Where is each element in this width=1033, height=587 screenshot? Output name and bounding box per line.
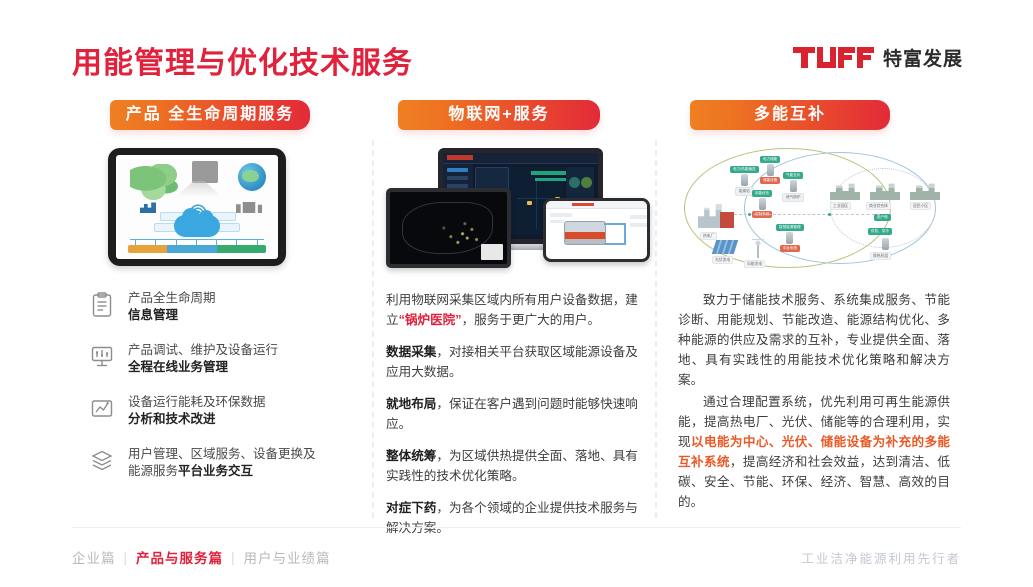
boiler-schematic (564, 221, 606, 245)
phone-tag (630, 215, 647, 219)
multi-energy-text-block: 致力于储能技术服务、系统集成服务、节能诊断、用能规划、节能改造、能源结构优化、多… (678, 290, 950, 514)
list-item: 产品调试、维护及设备运行 全程在线业务管理 (90, 342, 380, 376)
diagram-label: 光伏发电 (712, 256, 733, 264)
phone-topbar (546, 201, 647, 209)
list-item-line2: 分析和技术改进 (128, 412, 216, 426)
list-item: 设备运行能耗及环保数据 分析和技术改进 (90, 394, 380, 428)
gauge-icon (569, 177, 580, 188)
list-item-line2-plain: 能源服务 (128, 464, 178, 478)
paragraph: 利用物联网采集区域内所有用户设备数据，建立“锅炉医院”，服务于更广大的用户。 (386, 290, 650, 330)
paragraph: 就地布局，保证在客户遇到问题时能够快速响应。 (386, 394, 650, 434)
pipe-line (604, 223, 626, 225)
tablet-device-image (108, 148, 286, 266)
segment-bar (128, 245, 266, 253)
diagram-label: 风能发电 (744, 260, 765, 268)
clipboard-icon (90, 292, 114, 318)
banner-wrap-2: 物联网+服务 (378, 100, 658, 134)
paragraph: 数据采集，对接相关平台获取区域能源设备及应用大数据。 (386, 342, 650, 382)
footer-separator: | (124, 550, 129, 565)
node-caption: 平台系统 (780, 245, 800, 252)
layers-icon (90, 448, 114, 474)
node-caption: 储能设备 (760, 177, 780, 184)
factory-icon (140, 201, 156, 213)
paragraph-highlight: “锅炉医院” (399, 313, 462, 327)
node-pill (741, 174, 748, 186)
tuff-wordmark-icon (793, 47, 874, 68)
list-item-line1: 设备运行能耗及环保数据 (128, 395, 266, 409)
phone-logo (572, 203, 594, 206)
slide-header: 用能管理与优化技术服务 特富发展 (0, 0, 1033, 96)
cloud-icon (174, 215, 220, 237)
footer-nav: 企业篇 | 产品与服务篇 | 用户与业绩篇 (72, 547, 331, 567)
map-outline (402, 202, 493, 254)
footer-nav-item-2[interactable]: 产品与服务篇 (136, 547, 223, 567)
server-icon (192, 161, 218, 183)
node-pill (786, 232, 793, 244)
node-caption: 用户侧 (874, 214, 891, 221)
phone-tag (550, 220, 564, 223)
paragraph-lead: 整体统筹 (386, 449, 436, 463)
column-multi-energy: 多能互补 热电厂 光伏发电 风能发电 电力/热能输送 能源站 (672, 100, 957, 515)
paragraph-lead: 就地布局 (386, 397, 436, 411)
diagram-label: 工业园区 (830, 202, 851, 210)
brand-name: 特富发展 (883, 44, 963, 71)
diagram-label: 换热机组 (870, 252, 891, 260)
list-item-line1: 用户管理、区域服务、设备更换及 (128, 447, 316, 461)
paragraph-lead: 对症下药 (386, 501, 436, 515)
node-caption: 能源站 (735, 187, 754, 196)
banner-wrap-1: 产品 全生命周期服务 (78, 100, 378, 134)
china-map-icon (130, 164, 182, 200)
list-item-text: 产品调试、维护及设备运行 全程在线业务管理 (128, 342, 278, 376)
node-caption: 供热、供冷 (868, 228, 892, 235)
node-pill (790, 180, 797, 192)
diagram-label: 商业综合体 (866, 202, 891, 210)
diagram-label: 热电厂 (700, 232, 717, 240)
node-caption: 气能互补 (783, 172, 803, 179)
diagram-node: 智慧能源管理 平台系统 (776, 224, 804, 252)
node-caption: 燃气锅炉 (782, 193, 804, 202)
list-item: 产品全生命周期 信息管理 (90, 290, 380, 324)
column-product-lifecycle: 产品 全生命周期服务 (78, 100, 378, 515)
list-item-line1: 产品全生命周期 (128, 291, 216, 305)
list-item-text: 设备运行能耗及环保数据 分析和技术改进 (128, 394, 266, 428)
node-caption: 电力/热能输送 (730, 166, 759, 173)
paragraph: 整体统筹，为区域供热提供全面、落地、具有实践性的技术优化策略。 (386, 446, 650, 486)
section-banner-1: 产品 全生命周期服务 (110, 100, 310, 130)
feature-list: 产品全生命周期 信息管理 产品调试、维护及设备运行 (90, 290, 380, 498)
node-caption: 用能优化 (752, 190, 772, 197)
graph-node (527, 201, 532, 205)
dashboard-logo (447, 155, 473, 160)
node-caption: 电力储能 (760, 156, 780, 163)
footer-separator: | (231, 550, 236, 565)
list-item-text: 产品全生命周期 信息管理 (128, 290, 216, 324)
list-item: 用户管理、区域服务、设备更换及 能源服务平台业务交互 (90, 446, 380, 480)
page-title: 用能管理与优化技术服务 (72, 38, 413, 82)
footer-nav-item-1[interactable]: 企业篇 (72, 547, 116, 567)
list-item-line1: 产品调试、维护及设备运行 (128, 343, 278, 357)
slide-footer: 企业篇 | 产品与服务篇 | 用户与业绩篇 工业洁净能源利用先行者 (0, 517, 1033, 587)
phone-tag (630, 223, 647, 227)
energy-network-diagram: 热电厂 光伏发电 风能发电 电力/热能输送 能源站 电力储能 储能设备 用能优化… (678, 142, 948, 272)
globe-icon (238, 163, 266, 191)
paragraph: 通过合理配置系统，优先利用可再生能源供能，提高热电厂、光伏、储能等的合理利用，实… (678, 392, 950, 512)
paragraph-text: 致力于储能技术服务、系统集成服务、节能诊断、用能规划、节能改造、能源结构优化、多… (678, 293, 950, 387)
pipe-line (604, 243, 626, 245)
solar-panel-icon (712, 240, 739, 254)
diagram-node: 气能互补 燃气锅炉 (782, 172, 804, 202)
diagram-node: 电力储能 储能设备 (760, 156, 780, 184)
phone-device (543, 198, 650, 262)
phone-tag (550, 213, 572, 217)
section-banner-3: 多能互补 (690, 100, 890, 130)
section-banner-2: 物联网+服务 (398, 100, 600, 130)
monitor-icon (90, 344, 114, 370)
column-iot-service: 物联网+服务 (378, 100, 658, 515)
node-pill (767, 164, 774, 176)
node-caption: 智慧能源管理 (776, 224, 804, 231)
footer-divider (72, 527, 961, 528)
list-item-line2: 信息管理 (128, 308, 178, 322)
node-pill (882, 238, 889, 250)
tablet-screen (116, 155, 278, 259)
list-item-line2: 平台业务交互 (178, 464, 253, 478)
list-item-text: 用户管理、区域服务、设备更换及 能源服务平台业务交互 (128, 446, 316, 480)
phone-screen (546, 201, 647, 259)
footer-tagline: 工业洁净能源利用先行者 (801, 548, 961, 567)
paragraph: 致力于储能技术服务、系统集成服务、节能诊断、用能规划、节能改造、能源结构优化、多… (678, 290, 950, 390)
tablet-screen-map (390, 192, 507, 264)
node-pill (759, 198, 766, 210)
gauge-icon (581, 177, 592, 188)
diagram-label: 居民小区 (910, 202, 931, 210)
paragraph-text-after: ，服务于更广大的用户。 (462, 313, 601, 327)
paragraph-lead: 数据采集 (386, 345, 436, 359)
slide-root: 用能管理与优化技术服务 特富发展 产品 全生命周期服务 (0, 0, 1033, 587)
iot-text-block: 利用物联网采集区域内所有用户设备数据，建立“锅炉医院”，服务于更广大的用户。 数… (386, 290, 650, 550)
multi-device-image (386, 146, 650, 272)
list-item-line2: 全程在线业务管理 (128, 360, 228, 374)
columns-area: 产品 全生命周期服务 (0, 100, 1033, 515)
devices-icon (236, 202, 262, 213)
map-legend-badge (481, 244, 503, 260)
tablet-device (386, 188, 511, 268)
plant-building-icon (720, 212, 734, 228)
banner-wrap-3: 多能互补 (672, 100, 957, 134)
wind-turbine-icon (750, 238, 766, 258)
dashboard-topbar (443, 153, 598, 164)
beam-decoration (176, 181, 222, 197)
footer-nav-item-3[interactable]: 用户与业绩篇 (244, 547, 331, 567)
pipe-line (624, 223, 626, 245)
brand-logo: 特富发展 (793, 44, 963, 71)
chart-image-icon (90, 396, 114, 422)
